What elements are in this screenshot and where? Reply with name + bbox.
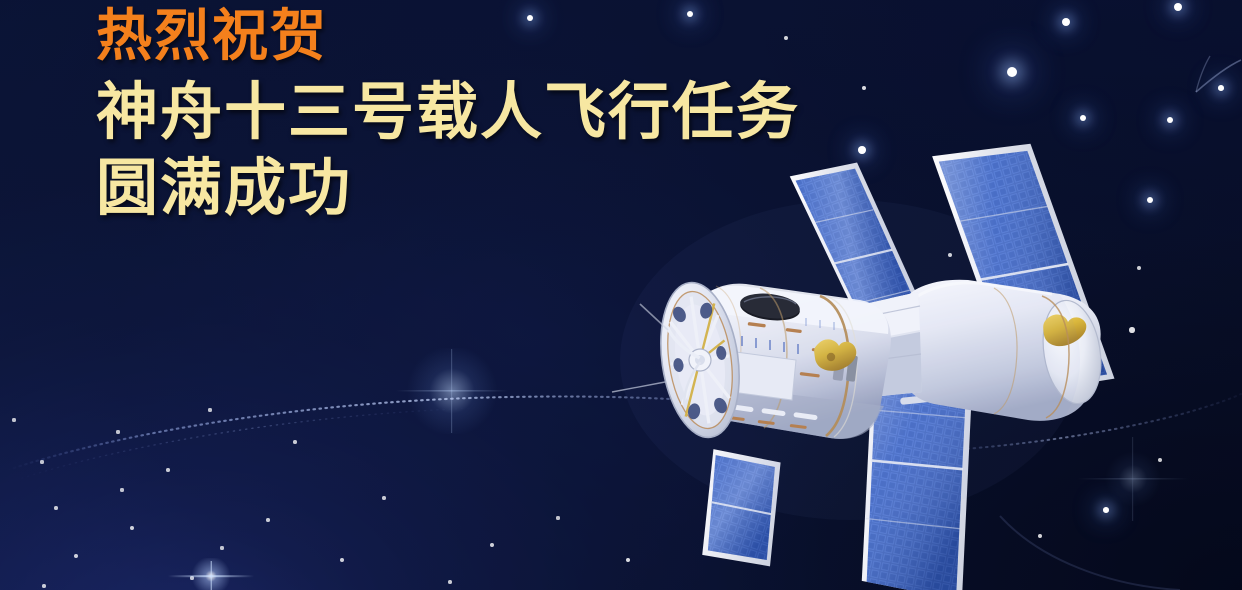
star bbox=[1137, 266, 1141, 270]
star bbox=[220, 546, 223, 549]
star bbox=[556, 516, 559, 519]
star bbox=[208, 408, 211, 411]
star bbox=[74, 554, 78, 558]
star bbox=[948, 253, 952, 257]
star bbox=[166, 468, 170, 472]
star bbox=[1038, 534, 1042, 538]
star bbox=[626, 558, 631, 563]
star bbox=[1167, 117, 1174, 124]
star bbox=[40, 460, 43, 463]
star bbox=[958, 163, 963, 168]
star bbox=[862, 86, 867, 91]
star bbox=[130, 526, 134, 530]
star-glint-secondary bbox=[1098, 452, 1168, 506]
banner-root: 热烈祝贺 神舟十三号载人飞行任务 圆满成功 bbox=[0, 0, 1242, 590]
star bbox=[54, 506, 58, 510]
star bbox=[1103, 507, 1109, 513]
star bbox=[1062, 18, 1070, 26]
star bbox=[120, 488, 123, 491]
star bbox=[340, 558, 344, 562]
headline-line-2: 神舟十三号载人飞行任务 bbox=[96, 82, 800, 144]
star bbox=[1129, 327, 1134, 332]
star bbox=[948, 328, 952, 332]
star bbox=[1147, 197, 1153, 203]
lens-flare-star bbox=[185, 558, 237, 590]
headline-line-1: 热烈祝贺 bbox=[96, 8, 800, 64]
star-glint bbox=[396, 348, 508, 434]
star bbox=[293, 440, 297, 444]
star bbox=[858, 146, 866, 154]
star bbox=[382, 496, 386, 500]
star bbox=[1006, 186, 1010, 190]
star bbox=[1174, 3, 1183, 12]
star bbox=[116, 430, 119, 433]
headline-line-3: 圆满成功 bbox=[96, 158, 800, 220]
star bbox=[1034, 271, 1041, 278]
star bbox=[12, 418, 15, 421]
star bbox=[1080, 115, 1087, 122]
star bbox=[42, 584, 46, 588]
star bbox=[448, 580, 452, 584]
star bbox=[490, 543, 494, 547]
star bbox=[266, 518, 270, 522]
headline-block: 热烈祝贺 神舟十三号载人飞行任务 圆满成功 bbox=[96, 8, 800, 220]
star bbox=[1007, 67, 1018, 78]
star bbox=[1218, 85, 1224, 91]
